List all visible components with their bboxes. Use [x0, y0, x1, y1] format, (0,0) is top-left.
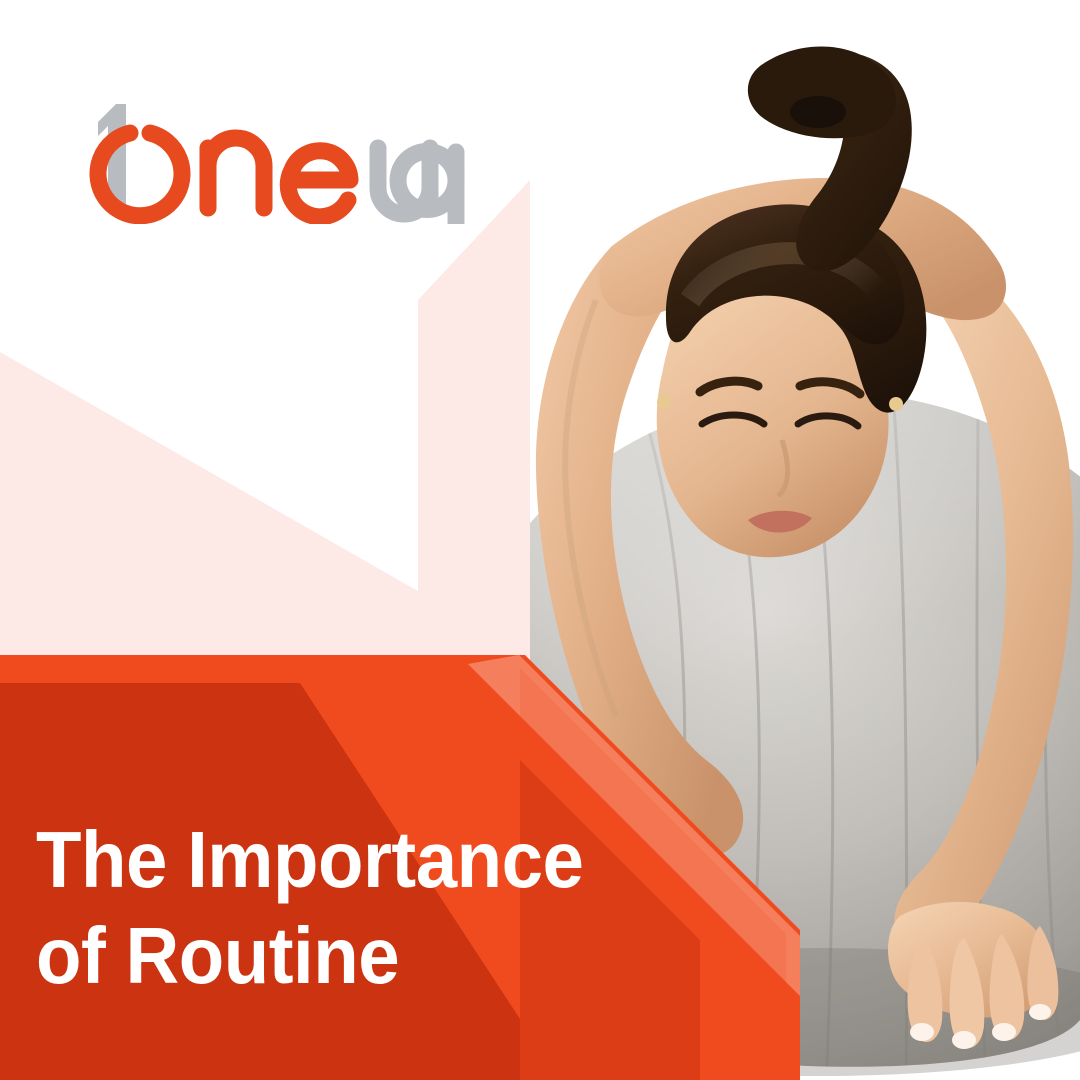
promo-graphic-canvas: The Importance of Routine — [0, 0, 1080, 1080]
oneup-logo[interactable] — [52, 96, 472, 224]
logo-text-ne — [208, 138, 350, 217]
logo-text-up — [378, 148, 456, 224]
headline-line-2: of Routine — [36, 908, 687, 1004]
headline-line-1: The Importance — [36, 812, 687, 908]
page-title: The Importance of Routine — [36, 812, 687, 1004]
